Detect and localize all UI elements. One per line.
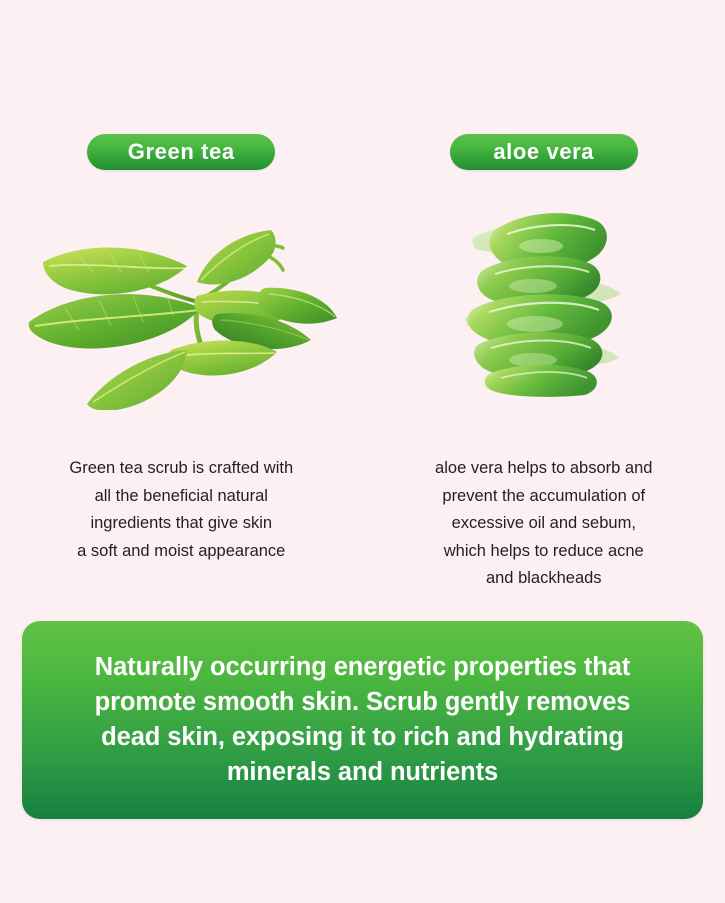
summary-banner-text: Naturally occurring energetic properties… [73, 650, 653, 790]
ingredient-label-text: Green tea [128, 141, 235, 163]
description-line: which helps to reduce acne [385, 538, 704, 566]
description-line: excessive oil and sebum, [385, 510, 704, 538]
ingredient-column-green-tea: Green tea [0, 0, 363, 610]
ingredient-label-green-tea: Green tea [87, 134, 275, 170]
aloe-vera-slices-image [363, 198, 725, 398]
ingredient-description-green-tea: Green tea scrub is crafted with all the … [0, 455, 363, 565]
ingredient-label-text: aloe vera [493, 141, 594, 163]
ingredient-column-aloe-vera: aloe vera [363, 0, 725, 610]
ingredient-columns: Green tea [0, 0, 725, 610]
description-line: prevent the accumulation of [385, 483, 704, 511]
description-line: all the beneficial natural [22, 483, 341, 511]
description-line: and blackheads [385, 565, 704, 593]
ingredient-description-aloe-vera: aloe vera helps to absorb and prevent th… [363, 455, 725, 593]
banner-line: dead skin, exposing it to rich and hydra… [95, 720, 631, 755]
ingredient-label-aloe-vera: aloe vera [450, 134, 638, 170]
banner-line: minerals and nutrients [95, 755, 631, 790]
description-line: aloe vera helps to absorb and [385, 455, 704, 483]
description-line: ingredients that give skin [22, 510, 341, 538]
banner-line: Naturally occurring energetic properties… [95, 650, 631, 685]
description-line: a soft and moist appearance [22, 538, 341, 566]
description-line: Green tea scrub is crafted with [22, 455, 341, 483]
green-tea-leaves-image [0, 190, 363, 410]
summary-banner: Naturally occurring energetic properties… [22, 621, 703, 819]
banner-line: promote smooth skin. Scrub gently remove… [95, 685, 631, 720]
ingredient-info-page: Green tea [0, 0, 725, 903]
